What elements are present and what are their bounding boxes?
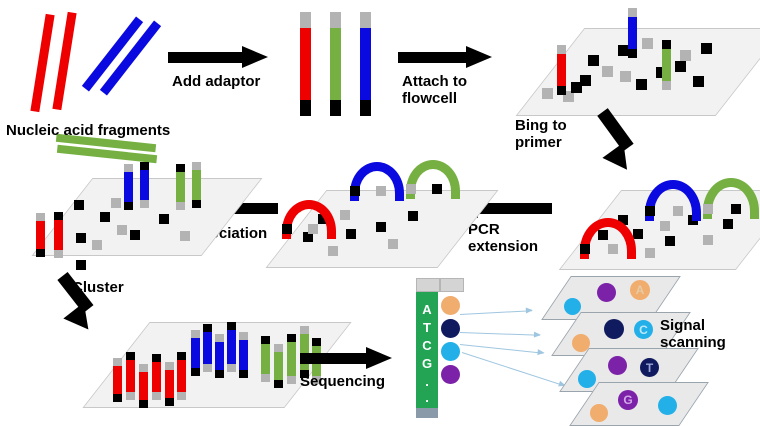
scan-dot-purple: [608, 356, 627, 375]
bridge-foot-black: [645, 206, 655, 216]
primer-black: [723, 219, 733, 229]
adaptor-cap-gray: [360, 12, 371, 28]
bridge-foot-black: [282, 224, 292, 234]
adaptor-cap-gray: [300, 12, 311, 28]
dissociated-strand-red: [36, 213, 45, 257]
base-letter-a: A: [416, 302, 438, 317]
step-flowcell: [520, 28, 750, 116]
cluster-strand-red: [177, 352, 186, 400]
primer-black: [693, 76, 704, 87]
primer-black: [665, 236, 675, 246]
step-clusters: [58, 296, 328, 416]
primer-gray: [111, 198, 121, 208]
cluster-strand-red: [165, 362, 174, 406]
bridge-foot-gray: [673, 206, 683, 216]
cluster-strand-green: [261, 336, 270, 382]
scan-base-letter: G: [623, 393, 632, 407]
bridge-foot-black: [350, 186, 360, 196]
arrow-add-adaptor: [168, 46, 268, 68]
fragment-red-2: [52, 12, 76, 110]
bridge-foot-black: [580, 244, 590, 254]
primer-black: [588, 55, 599, 66]
primer-black: [376, 222, 386, 232]
adapted-fragment-red: [300, 12, 311, 116]
adaptor-cap-black: [360, 100, 371, 116]
bridge-foot-black: [432, 184, 442, 194]
step-sequencing-column: A T C G . .: [410, 278, 480, 418]
bridge-foot-black: [731, 204, 741, 214]
bound-fragment-green: [662, 40, 671, 90]
base-letter-c: C: [416, 338, 438, 353]
cluster-strand-red: [113, 358, 122, 402]
base-letter-dot: .: [416, 390, 438, 405]
step-pcr-bridges: [560, 178, 760, 268]
dissociated-strand-blue: [124, 164, 133, 210]
primer-gray: [180, 231, 190, 241]
fragment-body-green: [330, 28, 341, 100]
label-bind-to-primer: Bing to primer: [515, 118, 567, 152]
primer-black: [100, 212, 110, 222]
scan-panel-surface: [569, 382, 709, 426]
fragment-body-red: [300, 28, 311, 100]
scan-dot-navy: [604, 319, 624, 339]
primer-black: [571, 82, 582, 93]
cluster-strand-red: [139, 364, 148, 408]
primer-gray: [542, 88, 553, 99]
cluster-strand-green: [274, 344, 283, 388]
primer-black: [701, 43, 712, 54]
scan-called-base-c: C: [634, 320, 653, 339]
base-letter-dot: .: [416, 374, 438, 389]
primer-gray: [660, 221, 670, 231]
adapted-fragment-green: [330, 12, 341, 116]
bridge-foot-gray: [308, 224, 318, 234]
sequencing-column-cap-left: [416, 278, 440, 292]
primer-black: [346, 229, 356, 239]
cluster-strand-blue: [215, 334, 224, 378]
scan-dot-cyan: [658, 396, 677, 415]
cluster-strand-blue: [191, 330, 200, 376]
primer-gray: [388, 239, 398, 249]
arrow-bind-to-primer: [590, 112, 660, 174]
cluster-strand-blue: [203, 324, 212, 372]
fragment-body-blue: [360, 28, 371, 100]
scan-panel-4: G: [570, 382, 700, 426]
dissociated-strand-red: [54, 212, 63, 258]
scan-dot-purple: [597, 283, 616, 302]
cluster-strand-red: [126, 352, 135, 400]
scan-dot-orange: [590, 404, 608, 422]
dissociated-strand-green: [176, 164, 185, 210]
primer-black: [675, 61, 686, 72]
flowcell-surface: [516, 28, 760, 116]
primer-gray: [117, 225, 127, 235]
primer-black: [408, 211, 418, 221]
label-attach-to-flowcell: Attach to flowcell: [402, 74, 467, 108]
dissociated-strand-green: [192, 162, 201, 208]
base-dot-c: [441, 342, 460, 361]
bridge-foot-gray: [608, 244, 618, 254]
adaptor-cap-gray: [330, 12, 341, 28]
scan-called-base-g: G: [618, 390, 638, 410]
dissociated-strand-blue: [140, 162, 149, 208]
label-nucleic-acid-fragments: Nucleic acid fragments: [6, 123, 170, 140]
base-dot-g: [441, 365, 460, 384]
primer-gray: [642, 38, 653, 49]
label-signal-scanning: Signal scanning: [660, 318, 726, 352]
sequencing-column-foot: [416, 408, 438, 418]
label-pcr-extension: PCR extension: [468, 222, 538, 256]
base-letter-g: G: [416, 356, 438, 371]
bridge-foot-gray: [406, 184, 416, 194]
scan-base-letter: A: [636, 283, 645, 297]
base-dot-a: [441, 296, 460, 315]
primer-black: [636, 79, 647, 90]
primer-gray: [92, 240, 102, 250]
sequencing-column: A T C G . .: [416, 288, 438, 416]
primer-gray: [340, 210, 350, 220]
primer-black: [130, 230, 140, 240]
label-sequencing: Sequencing: [300, 374, 385, 391]
fragment-red-1: [30, 14, 54, 112]
cluster-strand-blue: [227, 322, 236, 372]
bridge-foot-gray: [703, 204, 713, 214]
step-dissociated-strands: [14, 168, 239, 268]
adapted-fragment-blue: [360, 12, 371, 116]
primer-gray: [328, 246, 338, 256]
diagram-canvas: Nucleic acid fragments Add adaptor Attac…: [0, 0, 760, 422]
arrow-sequencing: [300, 348, 410, 370]
primer-gray: [680, 50, 691, 61]
scan-called-base-t: T: [640, 358, 659, 377]
adaptor-cap-black: [330, 100, 341, 116]
step-dissociation-bridges: [268, 176, 468, 268]
bridge-foot-gray: [376, 186, 386, 196]
label-add-adaptor: Add adaptor: [172, 74, 260, 91]
primer-gray: [645, 248, 655, 258]
primer-black: [74, 200, 84, 210]
cluster-strand-green: [287, 334, 296, 384]
sequencing-column-cap-right: [440, 278, 464, 292]
primer-gray: [703, 235, 713, 245]
base-letter-t: T: [416, 320, 438, 335]
bound-fragment-red: [557, 45, 566, 95]
scan-base-letter: C: [639, 323, 648, 337]
primer-black: [159, 214, 169, 224]
adaptor-cap-black: [300, 100, 311, 116]
label-cluster: Cluster: [72, 280, 124, 297]
bound-fragment-blue: [628, 8, 637, 58]
primer-black: [76, 233, 86, 243]
primer-gray: [602, 66, 613, 77]
cluster-strand-blue: [239, 332, 248, 378]
base-dot-t: [441, 319, 460, 338]
arrow-attach-to-flowcell: [398, 46, 498, 68]
scan-base-letter: T: [646, 361, 653, 375]
scan-called-base-a: A: [630, 280, 650, 300]
primer-black: [633, 229, 643, 239]
primer-gray: [620, 71, 631, 82]
cluster-strand-red: [152, 354, 161, 400]
primer-black: [76, 260, 86, 270]
